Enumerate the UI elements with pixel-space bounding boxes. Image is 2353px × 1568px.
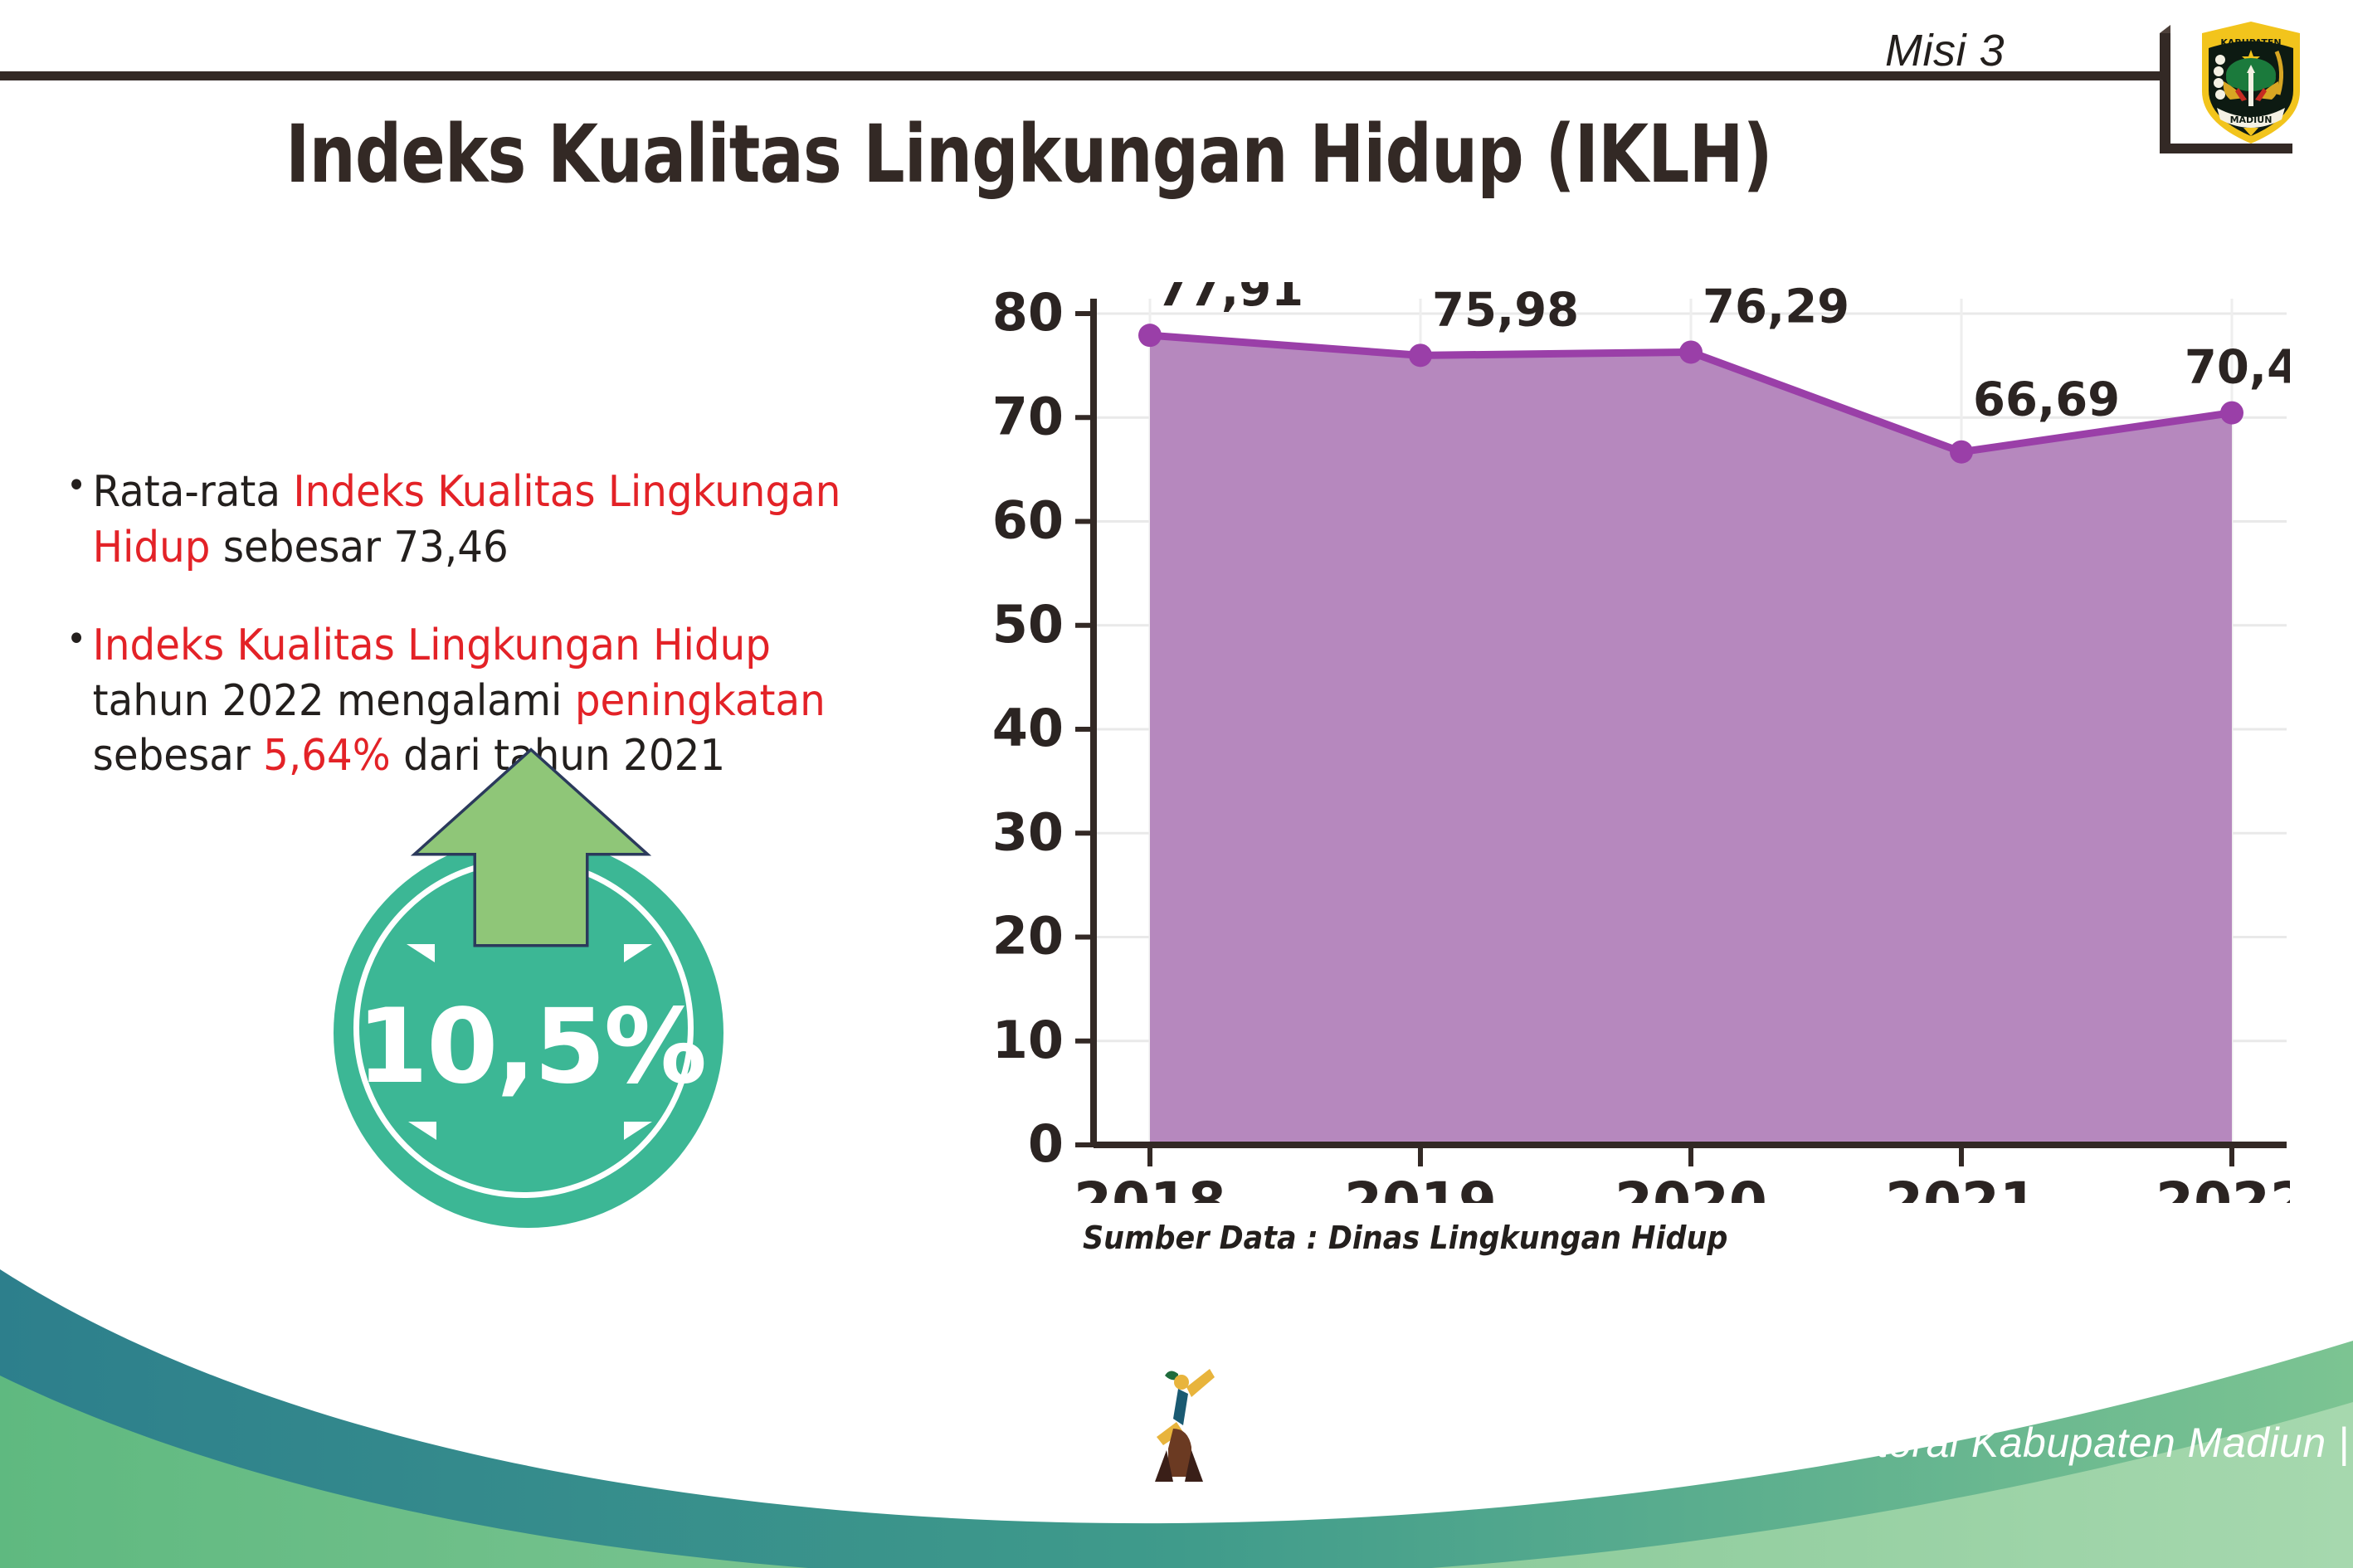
media-infografis-logo-icon bbox=[1145, 1361, 1228, 1485]
header-divider-line bbox=[0, 71, 2165, 80]
y-axis-tick-label: 30 bbox=[992, 801, 1064, 862]
badge-tick-icon-bottom-left bbox=[408, 1122, 436, 1140]
data-label: 76,29 bbox=[1703, 282, 1849, 334]
y-axis-tick-label: 10 bbox=[992, 1010, 1064, 1070]
badge-percentage-value: 10,5% bbox=[315, 987, 747, 1107]
y-axis-tick-label: 40 bbox=[992, 698, 1064, 758]
bullet-text-run: Rata-rata bbox=[93, 467, 294, 517]
up-arrow-icon bbox=[407, 747, 655, 950]
data-label: 77,91 bbox=[1157, 282, 1303, 317]
footer-caption: Media Infografis Data Statistik Sektoral… bbox=[1228, 1419, 2350, 1467]
y-axis-tick-label: 70 bbox=[992, 386, 1064, 446]
chart-canvas: 77,9175,9876,2966,6970,45010203040506070… bbox=[962, 282, 2290, 1203]
x-axis-tick-label: 2021 bbox=[1885, 1171, 2038, 1203]
emblem-top-text: KABUPATEN bbox=[2220, 37, 2281, 48]
increase-badge: 10,5% bbox=[315, 747, 747, 1211]
mission-label: Misi 3 bbox=[1885, 25, 2005, 76]
emblem-bottom-text: MADIUN bbox=[2230, 114, 2273, 125]
iklh-area-chart: 77,9175,9876,2966,6970,45010203040506070… bbox=[962, 282, 2290, 1203]
y-axis-tick-label: 80 bbox=[992, 282, 1064, 343]
bullet-text-run: Indeks Kualitas Lingkungan Hidup bbox=[93, 621, 771, 670]
x-axis-tick-label: 2022 bbox=[2156, 1171, 2290, 1203]
data-point-marker bbox=[1679, 340, 1703, 363]
infographic-slide: Misi 3 KABUPATEN bbox=[0, 0, 2353, 1568]
y-axis-tick-label: 50 bbox=[992, 594, 1064, 655]
x-axis-tick-label: 2018 bbox=[1074, 1171, 1226, 1203]
area-fill bbox=[1150, 335, 2232, 1145]
bullet-text-run: sebesar bbox=[93, 731, 263, 781]
y-axis-tick-label: 0 bbox=[1028, 1113, 1064, 1174]
data-label: 66,69 bbox=[1973, 373, 2120, 427]
data-label: 70,45 bbox=[2185, 341, 2290, 395]
bullet-text-run: sebesar 73,46 bbox=[210, 523, 508, 572]
bullet-text-run: tahun 2022 mengalami bbox=[93, 676, 575, 726]
badge-tick-icon-bottom-right bbox=[624, 1122, 652, 1140]
x-axis-tick-label: 2019 bbox=[1344, 1171, 1497, 1203]
kabupaten-madiun-emblem-icon: KABUPATEN MADIUN bbox=[2192, 15, 2310, 148]
data-point-marker bbox=[1409, 343, 1432, 367]
y-axis-tick-label: 20 bbox=[992, 906, 1064, 967]
page-title: Indeks Kualitas Lingkungan Hidup (IKLH) bbox=[185, 108, 1873, 201]
bullet-text-run: peningkatan bbox=[575, 676, 826, 726]
data-label: 75,98 bbox=[1432, 283, 1579, 337]
data-point-marker bbox=[2220, 402, 2243, 425]
chart-source-note: Sumber Data : Dinas Lingkungan Hidup bbox=[1083, 1220, 1727, 1256]
x-axis-tick-label: 2020 bbox=[1615, 1171, 1767, 1203]
list-item: Rata-rata Indeks Kualitas Lingkungan Hid… bbox=[66, 465, 892, 575]
emblem-bracket-vertical bbox=[2160, 33, 2170, 153]
y-axis-tick-label: 60 bbox=[992, 490, 1064, 551]
data-point-marker bbox=[1950, 441, 1973, 464]
data-point-marker bbox=[1138, 324, 1162, 347]
footer-wave-banner: Media Infografis Data Statistik Sektoral… bbox=[0, 1269, 2353, 1568]
